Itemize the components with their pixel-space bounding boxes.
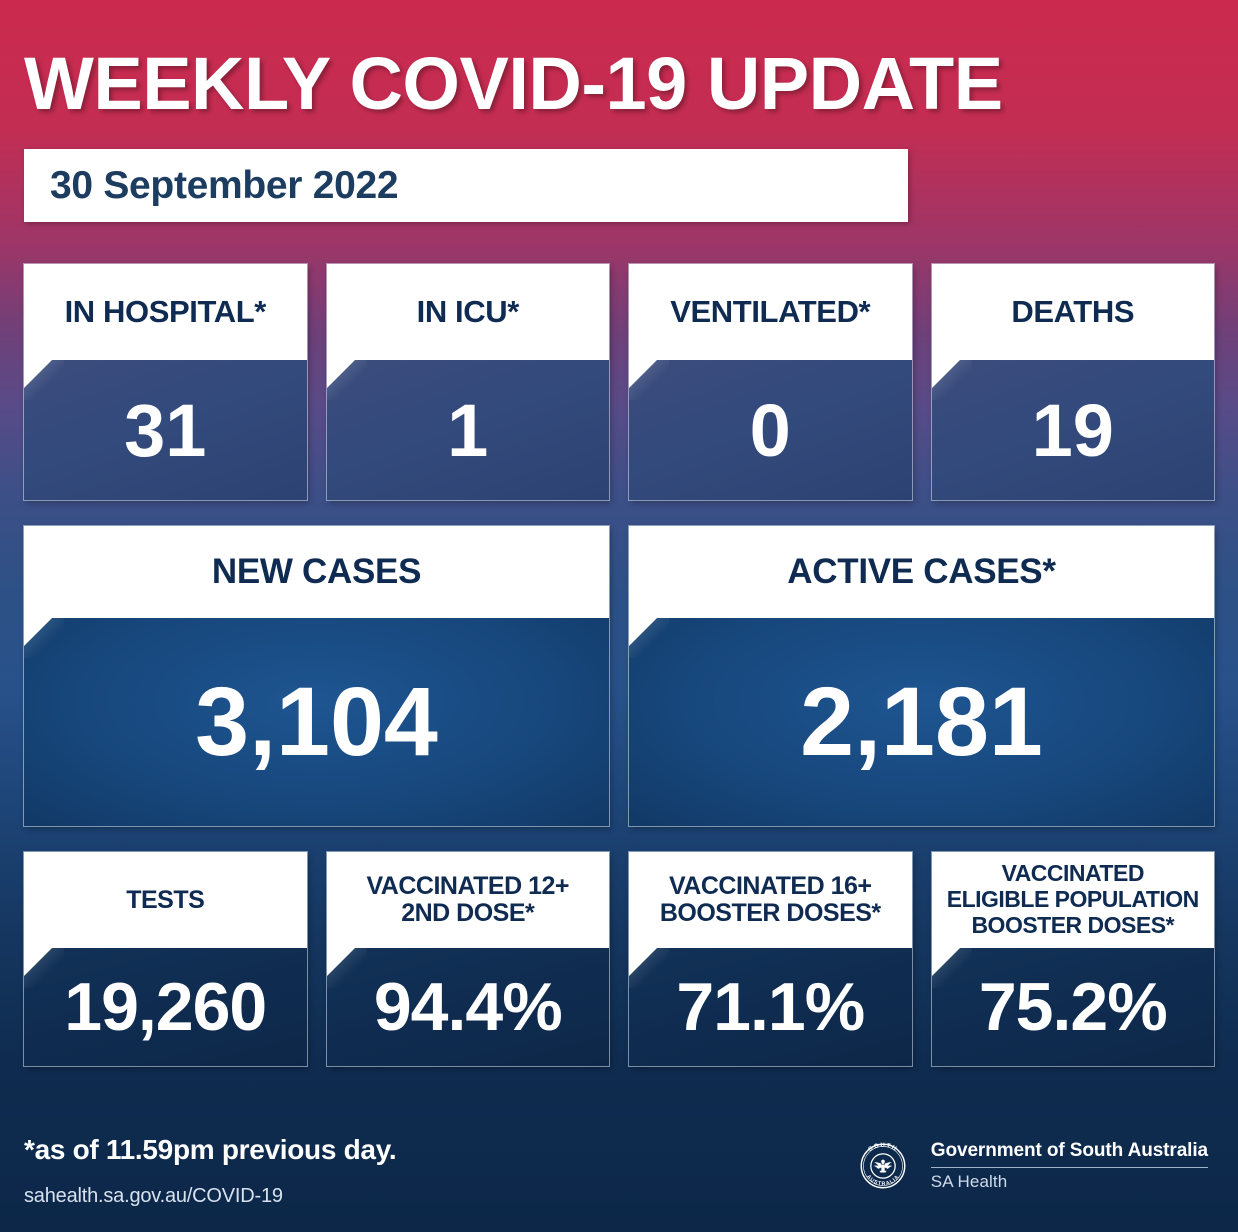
stat-value: 19,260 [64, 968, 266, 1046]
infographic-page: WEEKLY COVID-19 UPDATE 30 September 2022… [0, 0, 1238, 1232]
stat-value: 19 [1032, 388, 1114, 473]
website-url[interactable]: sahealth.sa.gov.au/COVID-19 [24, 1185, 396, 1208]
stat-value-container: 71.1% [629, 948, 912, 1066]
department-name: SA Health [931, 1172, 1208, 1192]
footer: *as of 11.59pm previous day. sahealth.sa… [24, 1114, 1214, 1232]
stat-value-container: 1 [327, 360, 610, 500]
stat-card-new-cases: NEW CASES 3,104 [24, 526, 609, 826]
stat-card-in-icu: IN ICU* 1 [327, 264, 610, 500]
stat-card-ventilated: VENTILATED* 0 [629, 264, 912, 500]
stat-value-container: 75.2% [932, 948, 1215, 1066]
stat-value-container: 94.4% [327, 948, 610, 1066]
stat-card-vaccinated-16plus-booster: VACCINATED 16+ BOOSTER DOSES* 71.1% [629, 852, 912, 1066]
government-logo: SOUTH AUSTRALIA Government of South Aust… [851, 1114, 1214, 1198]
stat-value-container: 2,181 [629, 618, 1214, 826]
seal-bottom-text: AUSTRALIA [865, 1174, 901, 1187]
stat-card-in-hospital: IN HOSPITAL* 31 [24, 264, 307, 500]
stat-value: 3,104 [195, 666, 438, 778]
stat-label-line2: BOOSTER DOSES* [660, 900, 881, 927]
stat-value-container: 0 [629, 360, 912, 500]
stat-value: 1 [447, 388, 488, 473]
stat-value: 94.4% [374, 968, 562, 1046]
page-title: WEEKLY COVID-19 UPDATE [24, 0, 1214, 121]
piping-shrike-icon [874, 1160, 892, 1173]
stats-row-cases: NEW CASES 3,104 ACTIVE CASES* 2,181 [24, 526, 1214, 826]
stat-card-vaccinated-12plus-2nd-dose: VACCINATED 12+ 2ND DOSE* 94.4% [327, 852, 610, 1066]
stat-value: 2,181 [800, 666, 1043, 778]
logo-divider [931, 1167, 1208, 1168]
stat-label-line1: VACCINATED 16+ [669, 873, 872, 900]
stat-label-line2: 2ND DOSE* [401, 900, 534, 927]
footnote-text: *as of 11.59pm previous day. [24, 1134, 396, 1166]
stat-card-tests: TESTS 19,260 [24, 852, 307, 1066]
stats-row-testing-vaccination: TESTS 19,260 VACCINATED 12+ 2ND DOSE* 94… [24, 852, 1214, 1066]
stat-label: NEW CASES [24, 526, 609, 618]
stat-card-deaths: DEATHS 19 [932, 264, 1215, 500]
stat-label: VACCINATED 12+ 2ND DOSE* [327, 852, 610, 948]
government-logo-text: Government of South Australia SA Health [931, 1140, 1208, 1192]
date-banner: 30 September 2022 [24, 149, 908, 222]
stat-label: VACCINATED ELIGIBLE POPULATION BOOSTER D… [932, 852, 1215, 948]
stat-label: VACCINATED 16+ BOOSTER DOSES* [629, 852, 912, 948]
stat-label: VENTILATED* [629, 264, 912, 360]
south-australia-seal-icon: SOUTH AUSTRALIA [851, 1134, 915, 1198]
stat-value-container: 19,260 [24, 948, 307, 1066]
stat-label-line3: BOOSTER DOSES* [971, 913, 1174, 939]
stat-value: 75.2% [979, 968, 1167, 1046]
stat-label-line1: TESTS [126, 887, 204, 914]
stats-row-clinical: IN HOSPITAL* 31 IN ICU* 1 VENTILATED* 0 … [24, 264, 1214, 500]
date-text: 30 September 2022 [50, 164, 398, 208]
stat-value: 31 [124, 388, 206, 473]
footer-notes: *as of 11.59pm previous day. sahealth.sa… [24, 1114, 396, 1208]
government-name: Government of South Australia [931, 1140, 1208, 1162]
svg-text:SOUTH: SOUTH [867, 1142, 899, 1153]
stat-value: 0 [750, 388, 791, 473]
stat-value-container: 31 [24, 360, 307, 500]
stat-card-vaccinated-eligible-population-booster: VACCINATED ELIGIBLE POPULATION BOOSTER D… [932, 852, 1215, 1066]
stat-card-active-cases: ACTIVE CASES* 2,181 [629, 526, 1214, 826]
svg-text:AUSTRALIA: AUSTRALIA [865, 1174, 901, 1187]
stat-label: IN HOSPITAL* [24, 264, 307, 360]
stat-label: ACTIVE CASES* [629, 526, 1214, 618]
seal-top-text: SOUTH [867, 1142, 899, 1153]
stat-value-container: 3,104 [24, 618, 609, 826]
stat-label: TESTS [24, 852, 307, 948]
stat-label: DEATHS [932, 264, 1215, 360]
stat-label: IN ICU* [327, 264, 610, 360]
stat-label-line1: VACCINATED [1002, 861, 1144, 887]
stat-label-line1: VACCINATED 12+ [366, 873, 569, 900]
stat-label-line2: ELIGIBLE POPULATION [947, 887, 1199, 913]
stat-value-container: 19 [932, 360, 1215, 500]
stat-value: 71.1% [676, 968, 864, 1046]
